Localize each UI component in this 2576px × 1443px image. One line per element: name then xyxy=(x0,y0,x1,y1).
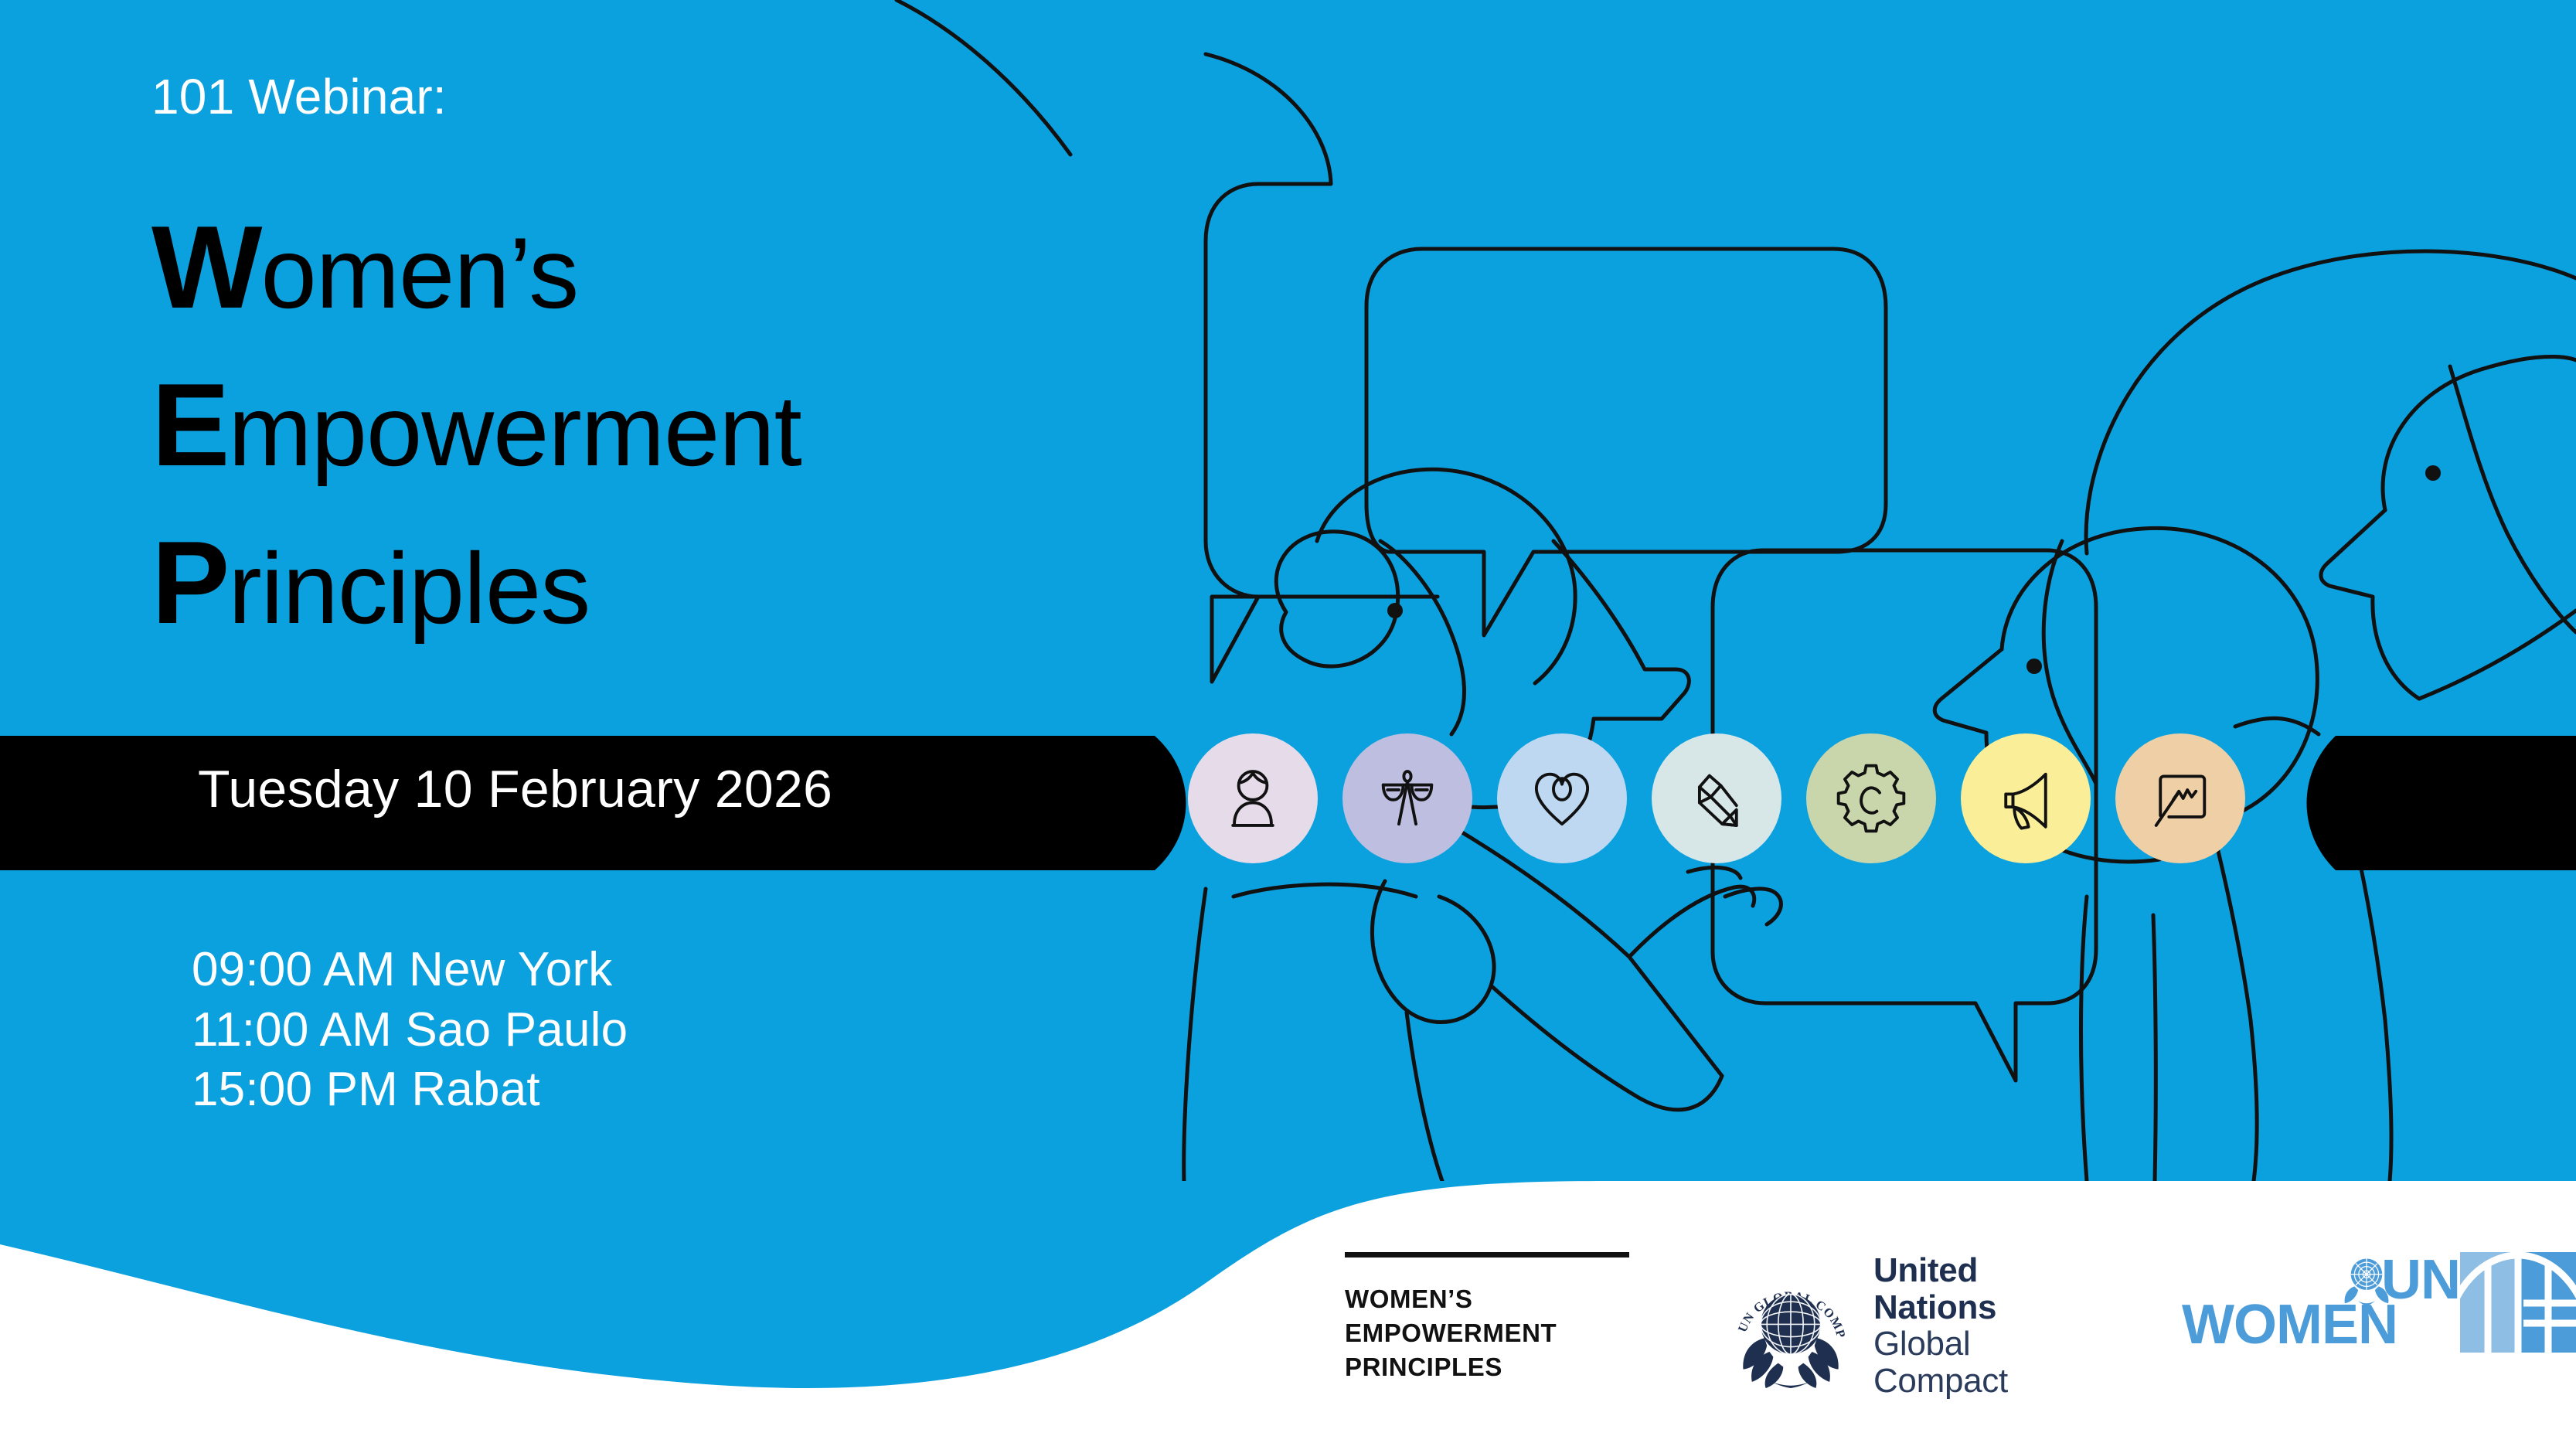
title-rest-1: omen’s xyxy=(260,216,578,329)
gear-icon xyxy=(1836,763,1907,834)
timezone-item-saopaulo: 11:00 AM Sao Paulo xyxy=(192,1000,628,1060)
megaphone-icon-circle[interactable] xyxy=(1961,733,2091,863)
wep-logo: WOMEN’S EMPOWERMENT PRINCIPLES xyxy=(1345,1252,1629,1384)
timezone-item-rabat: 15:00 PM Rabat xyxy=(192,1060,628,1120)
footer-logo-bar: WOMEN’S EMPOWERMENT PRINCIPLES UN GLOBAL… xyxy=(0,1181,2576,1443)
event-date: Tuesday 10 February 2026 xyxy=(198,759,832,819)
webinar-poster: 101 Webinar: Women’s Empowerment Princip… xyxy=(0,0,2576,1443)
un-women-logo: UN WOMEN xyxy=(2182,1252,2576,1353)
title-line-2: Empowerment xyxy=(151,366,1079,484)
pencil-icon-circle[interactable] xyxy=(1652,733,1781,863)
heart-icon-circle[interactable] xyxy=(1497,733,1627,863)
ungc-logo-text: United Nations Global Compact xyxy=(1873,1252,2083,1399)
scales-icon xyxy=(1372,763,1443,834)
wep-logo-rule xyxy=(1345,1252,1629,1258)
wep-logo-line-3: PRINCIPLES xyxy=(1345,1350,1629,1384)
scales-icon-circle[interactable] xyxy=(1342,733,1472,863)
logo-row: WOMEN’S EMPOWERMENT PRINCIPLES UN GLOBAL… xyxy=(1345,1252,2576,1399)
title-rest-3: rinciples xyxy=(228,532,590,645)
megaphone-icon xyxy=(1990,763,2061,834)
un-women-wordmark: UN WOMEN xyxy=(2182,1252,2460,1353)
black-band-right xyxy=(2307,736,2576,870)
title-line-1: Women’s xyxy=(151,209,1079,326)
timezone-list: 09:00 AM New York 11:00 AM Sao Paulo 15:… xyxy=(192,940,628,1120)
pencil-icon xyxy=(1681,763,1752,834)
page-title: Women’s Empowerment Principles xyxy=(151,209,1079,682)
ungc-logo-line-2: Global Compact xyxy=(1873,1326,2083,1399)
eyebrow-label: 101 Webinar: xyxy=(151,68,447,125)
un-women-mark-icon xyxy=(2460,1252,2576,1353)
title-cap-p: P xyxy=(151,517,228,648)
heart-icon xyxy=(1526,763,1598,834)
person-icon xyxy=(1217,763,1288,834)
chart-icon xyxy=(2145,763,2216,834)
chart-icon-circle[interactable] xyxy=(2115,733,2245,863)
ungc-logo-line-1: United Nations xyxy=(1873,1252,2083,1326)
un-global-compact-logo: UN GLOBAL COMPACT xyxy=(1728,1252,2083,1399)
wep-logo-line-1: WOMEN’S xyxy=(1345,1282,1629,1316)
title-cap-e: E xyxy=(151,359,228,491)
title-rest-2: mpowerment xyxy=(228,374,801,487)
timezone-item-newyork: 09:00 AM New York xyxy=(192,940,628,1000)
gear-icon-circle[interactable] xyxy=(1806,733,1936,863)
person-icon-circle[interactable] xyxy=(1188,733,1318,863)
title-line-3: Principles xyxy=(151,524,1079,642)
un-global-compact-emblem-icon: UN GLOBAL COMPACT xyxy=(1728,1254,1853,1397)
wep-logo-line-2: EMPOWERMENT xyxy=(1345,1316,1629,1350)
un-emblem-icon xyxy=(2336,1249,2397,1309)
title-cap-w: W xyxy=(151,202,260,333)
